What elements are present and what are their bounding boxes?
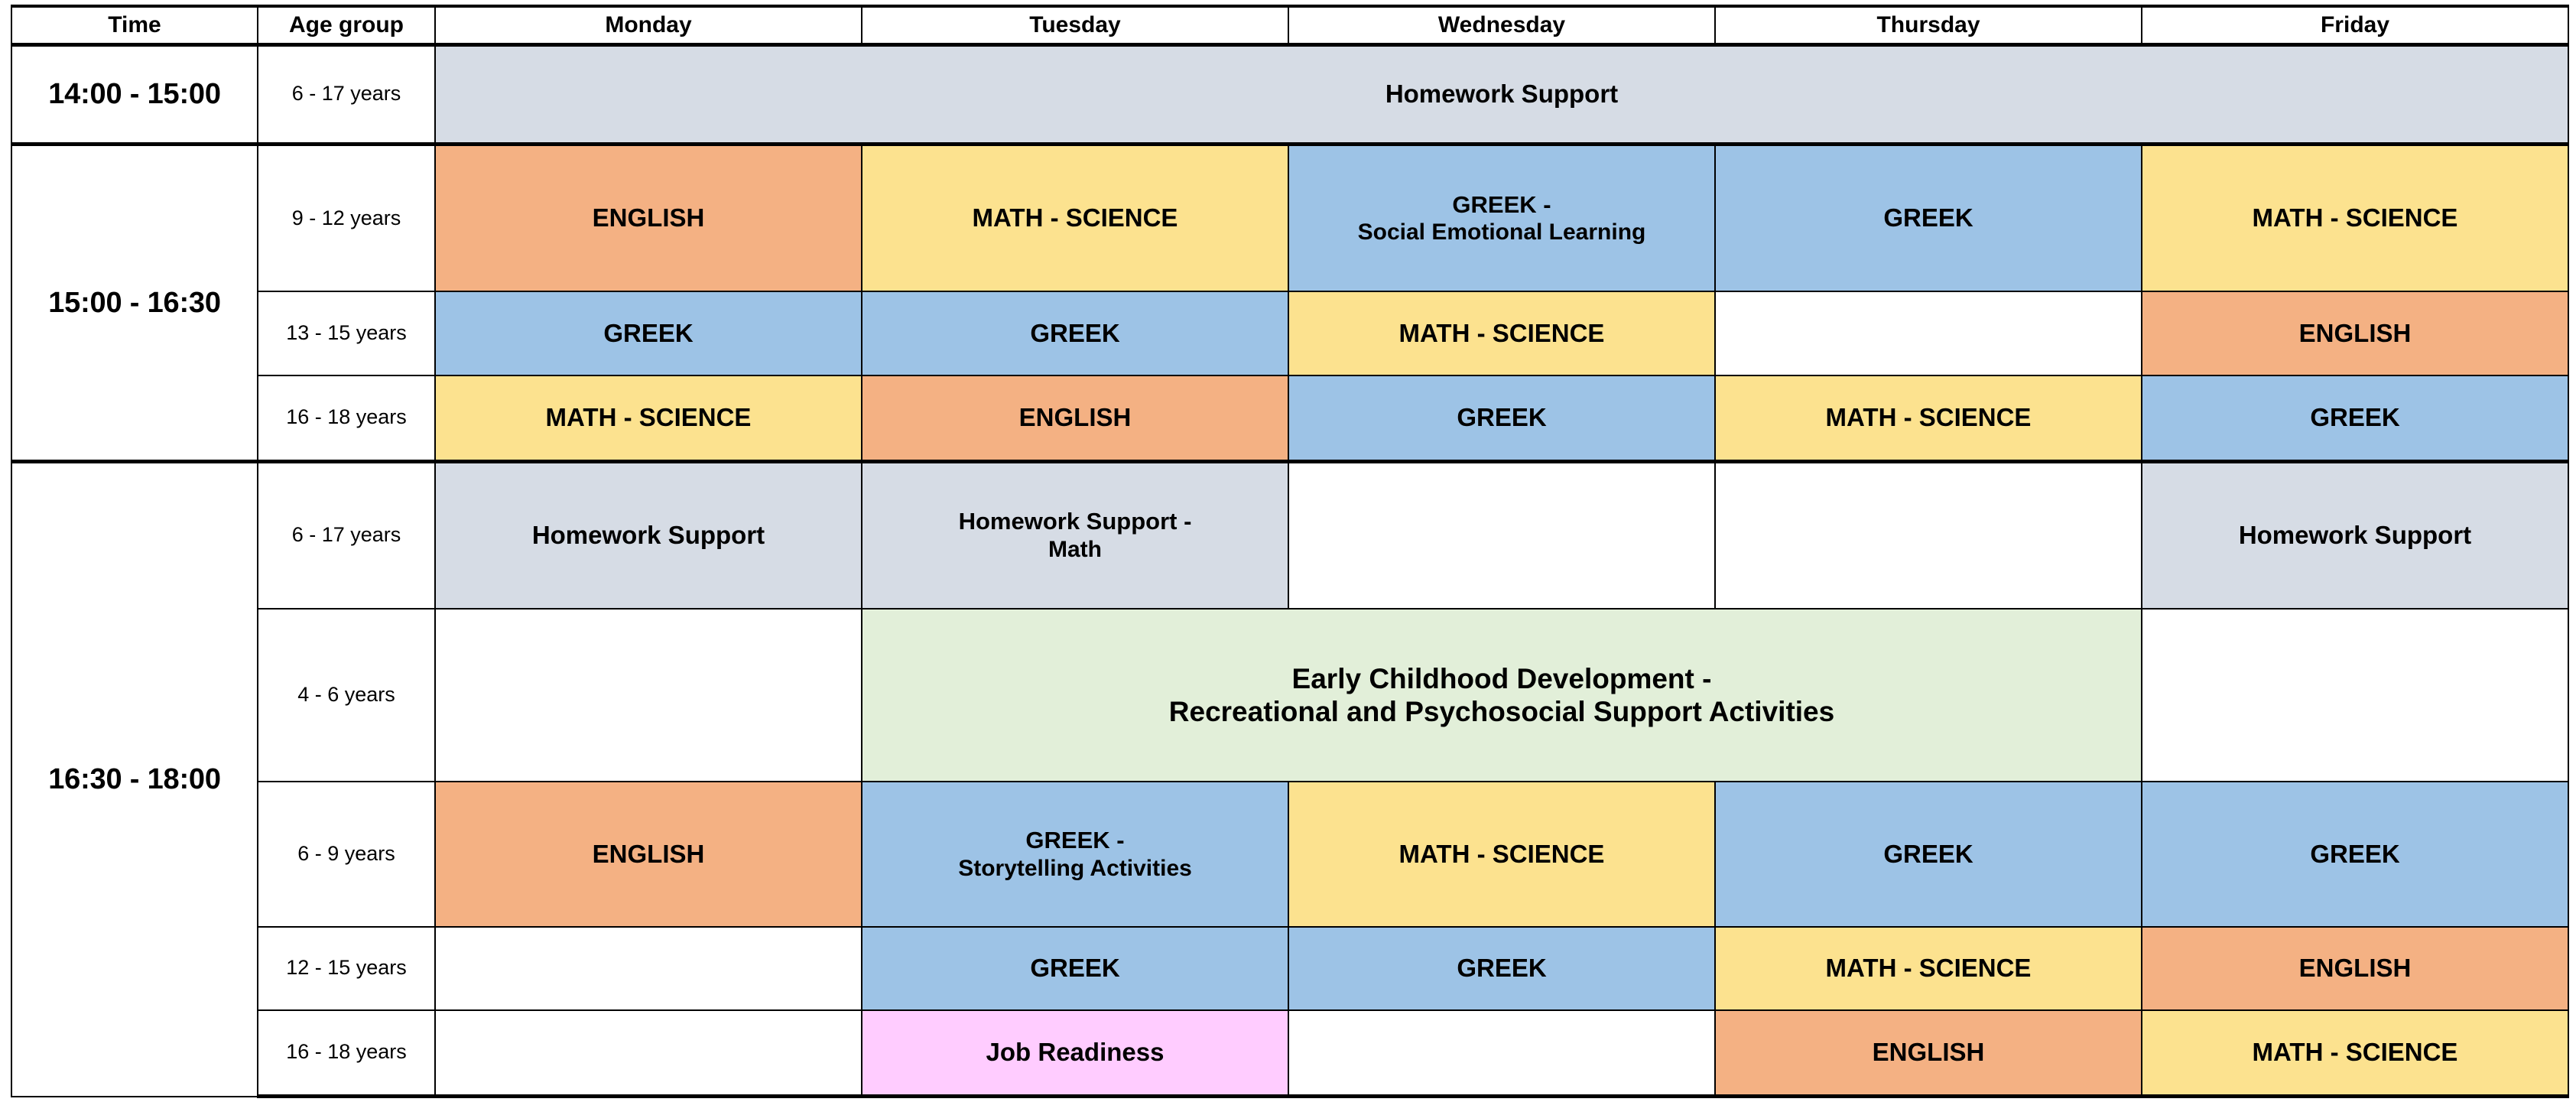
empty-cell <box>435 1010 862 1097</box>
column-header-thursday: Thursday <box>1715 6 2142 44</box>
activity-cell: MATH - SCIENCE <box>1288 782 1715 926</box>
activity-cell: ENGLISH <box>435 145 862 292</box>
age-group-cell: 9 - 12 years <box>258 145 435 292</box>
column-header-friday: Friday <box>2142 6 2568 44</box>
activity-label: GREEK - <box>1025 827 1124 853</box>
activity-cell: GREEK <box>1288 927 1715 1010</box>
age-group-cell: 6 - 9 years <box>258 782 435 926</box>
activity-cell: Homework Support <box>2142 461 2568 609</box>
time-slot-cell: 16:30 - 18:00 <box>11 461 258 1096</box>
activity-cell: GREEK <box>435 291 862 375</box>
empty-cell <box>435 927 862 1010</box>
activity-cell: GREEK <box>1288 375 1715 462</box>
timetable-row: 13 - 15 yearsGREEKGREEKMATH - SCIENCEENG… <box>11 291 2568 375</box>
activity-cell: ENGLISH <box>2142 291 2568 375</box>
activity-cell: MATH - SCIENCE <box>2142 145 2568 292</box>
activity-cell: GREEK -Storytelling Activities <box>862 782 1288 926</box>
activity-cell: Job Readiness <box>862 1010 1288 1097</box>
age-group-cell: 4 - 6 years <box>258 609 435 782</box>
timetable-row: 4 - 6 yearsEarly Childhood Development -… <box>11 609 2568 782</box>
empty-cell <box>2142 609 2568 782</box>
activity-label: Homework Support - <box>959 508 1192 535</box>
activity-sublabel: Storytelling Activities <box>867 855 1283 882</box>
column-header-age-group: Age group <box>258 6 435 44</box>
empty-cell <box>1715 291 2142 375</box>
activity-cell: GREEK <box>1715 145 2142 292</box>
timetable-row: 14:00 - 15:006 - 17 yearsHomework Suppor… <box>11 44 2568 145</box>
activity-cell: GREEK <box>2142 782 2568 926</box>
age-group-cell: 6 - 17 years <box>258 44 435 145</box>
column-header-time: Time <box>11 6 258 44</box>
time-slot-cell: 14:00 - 15:00 <box>11 44 258 145</box>
timetable-row: 16 - 18 yearsJob ReadinessENGLISHMATH - … <box>11 1010 2568 1097</box>
activity-cell: ENGLISH <box>435 782 862 926</box>
activity-cell: MATH - SCIENCE <box>435 375 862 462</box>
empty-cell <box>1288 1010 1715 1097</box>
age-group-cell: 13 - 15 years <box>258 291 435 375</box>
activity-cell: GREEK <box>2142 375 2568 462</box>
activity-cell: MATH - SCIENCE <box>1288 291 1715 375</box>
activity-cell: Homework Support -Math <box>862 461 1288 609</box>
empty-cell <box>1288 461 1715 609</box>
age-group-cell: 16 - 18 years <box>258 1010 435 1097</box>
activity-cell: GREEK -Social Emotional Learning <box>1288 145 1715 292</box>
column-header-tuesday: Tuesday <box>862 6 1288 44</box>
activity-cell: MATH - SCIENCE <box>862 145 1288 292</box>
activity-cell: Early Childhood Development -Recreationa… <box>862 609 2142 782</box>
age-group-cell: 6 - 17 years <box>258 461 435 609</box>
activity-cell: MATH - SCIENCE <box>2142 1010 2568 1097</box>
activity-cell: ENGLISH <box>2142 927 2568 1010</box>
column-header-monday: Monday <box>435 6 862 44</box>
activity-cell: GREEK <box>862 927 1288 1010</box>
age-group-cell: 12 - 15 years <box>258 927 435 1010</box>
activity-cell: MATH - SCIENCE <box>1715 927 2142 1010</box>
activity-sublabel: Social Emotional Learning <box>1294 219 1710 245</box>
timetable-row: 16:30 - 18:006 - 17 yearsHomework Suppor… <box>11 461 2568 609</box>
activity-cell: Homework Support <box>435 44 2568 145</box>
weekly-activity-timetable: Time Age group Monday Tuesday Wednesday … <box>11 5 2569 1098</box>
activity-cell: Homework Support <box>435 461 862 609</box>
timetable-row: 6 - 9 yearsENGLISHGREEK -Storytelling Ac… <box>11 782 2568 926</box>
timetable-row: 16 - 18 yearsMATH - SCIENCEENGLISHGREEKM… <box>11 375 2568 462</box>
column-header-wednesday: Wednesday <box>1288 6 1715 44</box>
table-body: 14:00 - 15:006 - 17 yearsHomework Suppor… <box>11 44 2568 1097</box>
activity-cell: GREEK <box>862 291 1288 375</box>
timetable-row: 15:00 - 16:309 - 12 yearsENGLISHMATH - S… <box>11 145 2568 292</box>
activity-label: Early Childhood Development - <box>1292 663 1712 694</box>
activity-sublabel: Recreational and Psychosocial Support Ac… <box>867 695 2136 729</box>
table-header: Time Age group Monday Tuesday Wednesday … <box>11 6 2568 44</box>
activity-cell: MATH - SCIENCE <box>1715 375 2142 462</box>
age-group-cell: 16 - 18 years <box>258 375 435 462</box>
header-row: Time Age group Monday Tuesday Wednesday … <box>11 6 2568 44</box>
activity-cell: ENGLISH <box>1715 1010 2142 1097</box>
activity-sublabel: Math <box>867 536 1283 563</box>
empty-cell <box>1715 461 2142 609</box>
activity-label: GREEK - <box>1452 191 1551 218</box>
activity-cell: ENGLISH <box>862 375 1288 462</box>
time-slot-cell: 15:00 - 16:30 <box>11 145 258 462</box>
activity-cell: GREEK <box>1715 782 2142 926</box>
timetable-container: Time Age group Monday Tuesday Wednesday … <box>0 0 2576 1102</box>
empty-cell <box>435 609 862 782</box>
timetable-row: 12 - 15 yearsGREEKGREEKMATH - SCIENCEENG… <box>11 927 2568 1010</box>
